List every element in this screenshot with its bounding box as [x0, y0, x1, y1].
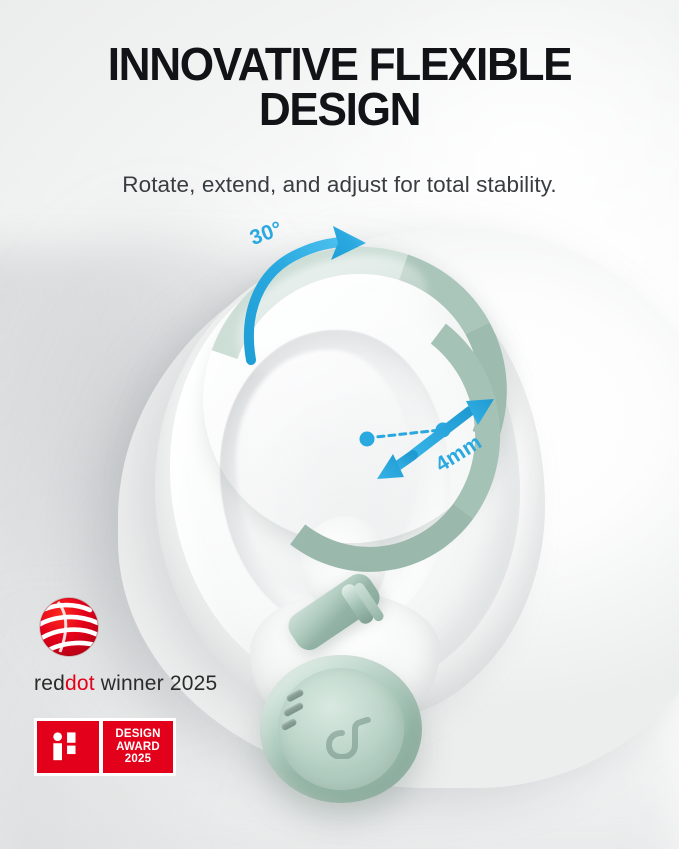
page-title: INNOVATIVE FLEXIBLE DESIGN: [14, 42, 666, 132]
reddot-prefix: red: [34, 672, 65, 695]
reddot-logo-icon: [38, 596, 100, 658]
if-design-award-badge: DESIGN AWARD 2025: [34, 718, 176, 776]
headline-line-2: DESIGN: [14, 87, 666, 132]
reddot-award-text: reddot winner 2025: [34, 672, 217, 696]
product-feature-image: INNOVATIVE FLEXIBLE DESIGN Rotate, exten…: [0, 0, 679, 849]
if-line-2: AWARD: [116, 741, 160, 754]
if-logo-icon: [37, 721, 99, 773]
if-award-text: DESIGN AWARD 2025: [103, 721, 173, 773]
awards-section: reddot winner 2025 DESIGN AWARD 2025: [34, 596, 217, 776]
reddot-suffix: winner 2025: [95, 672, 218, 695]
if-line-1: DESIGN: [115, 728, 160, 741]
if-line-3: 2025: [125, 753, 151, 766]
soundcore-logo-icon: [326, 717, 372, 759]
reddot-highlight: dot: [65, 672, 95, 695]
page-subtitle: Rotate, extend, and adjust for total sta…: [0, 172, 679, 198]
